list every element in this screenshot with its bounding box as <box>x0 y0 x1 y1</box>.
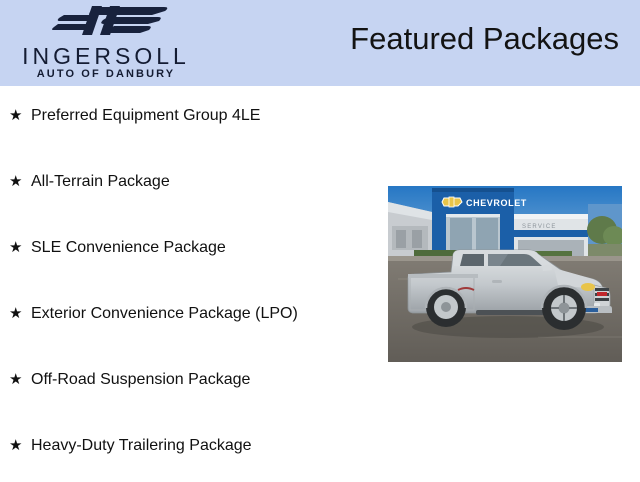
list-item: ★ Preferred Equipment Group 4LE <box>0 86 380 152</box>
list-item: ★ All-Terrain Package <box>0 152 380 218</box>
slide-header: INGERSOLL AUTO OF DANBURY Featured Packa… <box>0 0 640 86</box>
star-bullet-icon: ★ <box>9 106 31 126</box>
featured-packages-list: ★ Preferred Equipment Group 4LE ★ All-Te… <box>0 86 380 482</box>
star-bullet-icon: ★ <box>9 304 31 324</box>
list-item: ★ SLE Convenience Package <box>0 218 380 284</box>
svg-text:CHEVROLET: CHEVROLET <box>466 198 527 208</box>
star-bullet-icon: ★ <box>9 436 31 456</box>
dealer-name: INGERSOLL <box>8 44 204 69</box>
vehicle-photo: CHEVROLET SERVICE <box>388 186 622 362</box>
package-label: Off-Road Suspension Package <box>31 370 250 390</box>
slide-body: ★ Preferred Equipment Group 4LE ★ All-Te… <box>0 86 640 480</box>
winged-dealer-emblem-icon <box>52 4 172 40</box>
package-label: Exterior Convenience Package (LPO) <box>31 304 298 324</box>
package-label: SLE Convenience Package <box>31 238 226 258</box>
page-title: Featured Packages <box>350 20 619 58</box>
dealer-tagline: AUTO OF DANBURY <box>8 68 204 80</box>
star-bullet-icon: ★ <box>9 238 31 258</box>
star-bullet-icon: ★ <box>9 370 31 390</box>
package-label: Heavy-Duty Trailering Package <box>31 436 252 456</box>
list-item: ★ Exterior Convenience Package (LPO) <box>0 284 380 350</box>
list-item: ★ Off-Road Suspension Package <box>0 350 380 416</box>
star-bullet-icon: ★ <box>9 172 31 192</box>
package-label: Preferred Equipment Group 4LE <box>31 106 260 126</box>
package-label: All-Terrain Package <box>31 172 170 192</box>
dealer-brand-block: INGERSOLL AUTO OF DANBURY <box>0 0 210 86</box>
list-item: ★ Heavy-Duty Trailering Package <box>0 416 380 482</box>
svg-text:SERVICE: SERVICE <box>522 224 557 230</box>
